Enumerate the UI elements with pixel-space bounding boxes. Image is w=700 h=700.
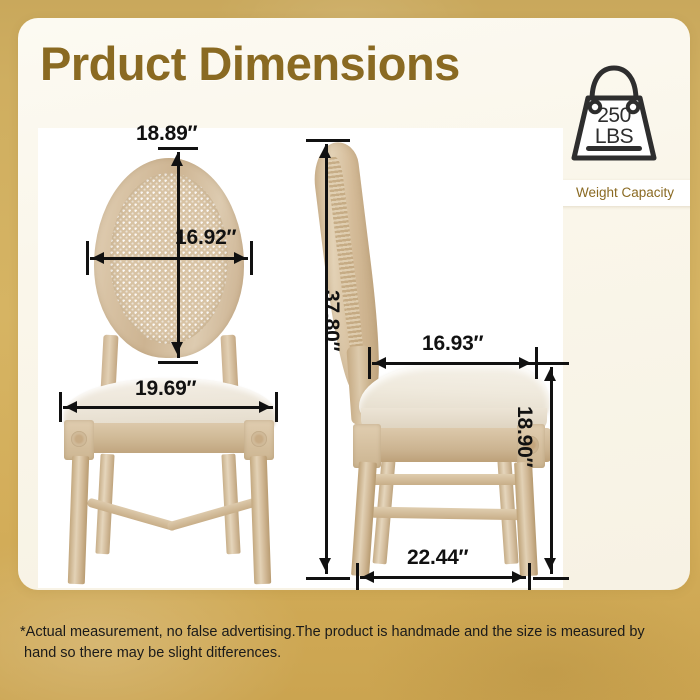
front-carved-block-left xyxy=(64,420,94,460)
dim-side-seat-height-label: 18.90″ xyxy=(512,406,536,467)
disclaimer-line-2: hand so there may be slight ditferences. xyxy=(20,643,680,664)
dim-front-back-height-label: 18.89″ xyxy=(136,122,197,146)
chair-side-view xyxy=(303,136,553,582)
dim-front-back-width-label: 16.92″ xyxy=(175,226,236,250)
disclaimer-line-1: *Actual measurement, no false advertisin… xyxy=(20,622,680,643)
weight-capacity-caption: Weight Capacity xyxy=(548,180,690,206)
front-leg-front-left xyxy=(68,456,89,585)
chair-front-view xyxy=(46,140,291,580)
page-title: Prduct Dimensions xyxy=(40,40,460,87)
disclaimer-note: *Actual measurement, no false advertisin… xyxy=(20,622,680,664)
front-leg-front-right xyxy=(250,456,271,585)
content-card: Prduct Dimensions 250 LBS Weight Capacit… xyxy=(18,18,690,590)
side-stretcher-upper xyxy=(365,474,533,485)
front-seat-apron xyxy=(70,423,270,453)
dim-side-total-depth-label: 22.44″ xyxy=(407,546,468,570)
dim-side-total-height-label: 37.80″ xyxy=(319,290,343,351)
dim-front-seat-width-label: 19.69″ xyxy=(135,377,196,401)
dim-side-seat-depth-label: 16.93″ xyxy=(422,332,483,356)
product-image-panel: 18.89″ 16.92″ 19.69″ xyxy=(38,128,563,588)
front-stretcher-b xyxy=(167,497,258,531)
side-stretcher-lower xyxy=(369,507,529,521)
weight-capacity-badge: 250 LBS Weight Capacity xyxy=(544,60,684,166)
front-carved-block-right xyxy=(244,420,274,460)
shopping-bag-icon xyxy=(544,60,684,166)
